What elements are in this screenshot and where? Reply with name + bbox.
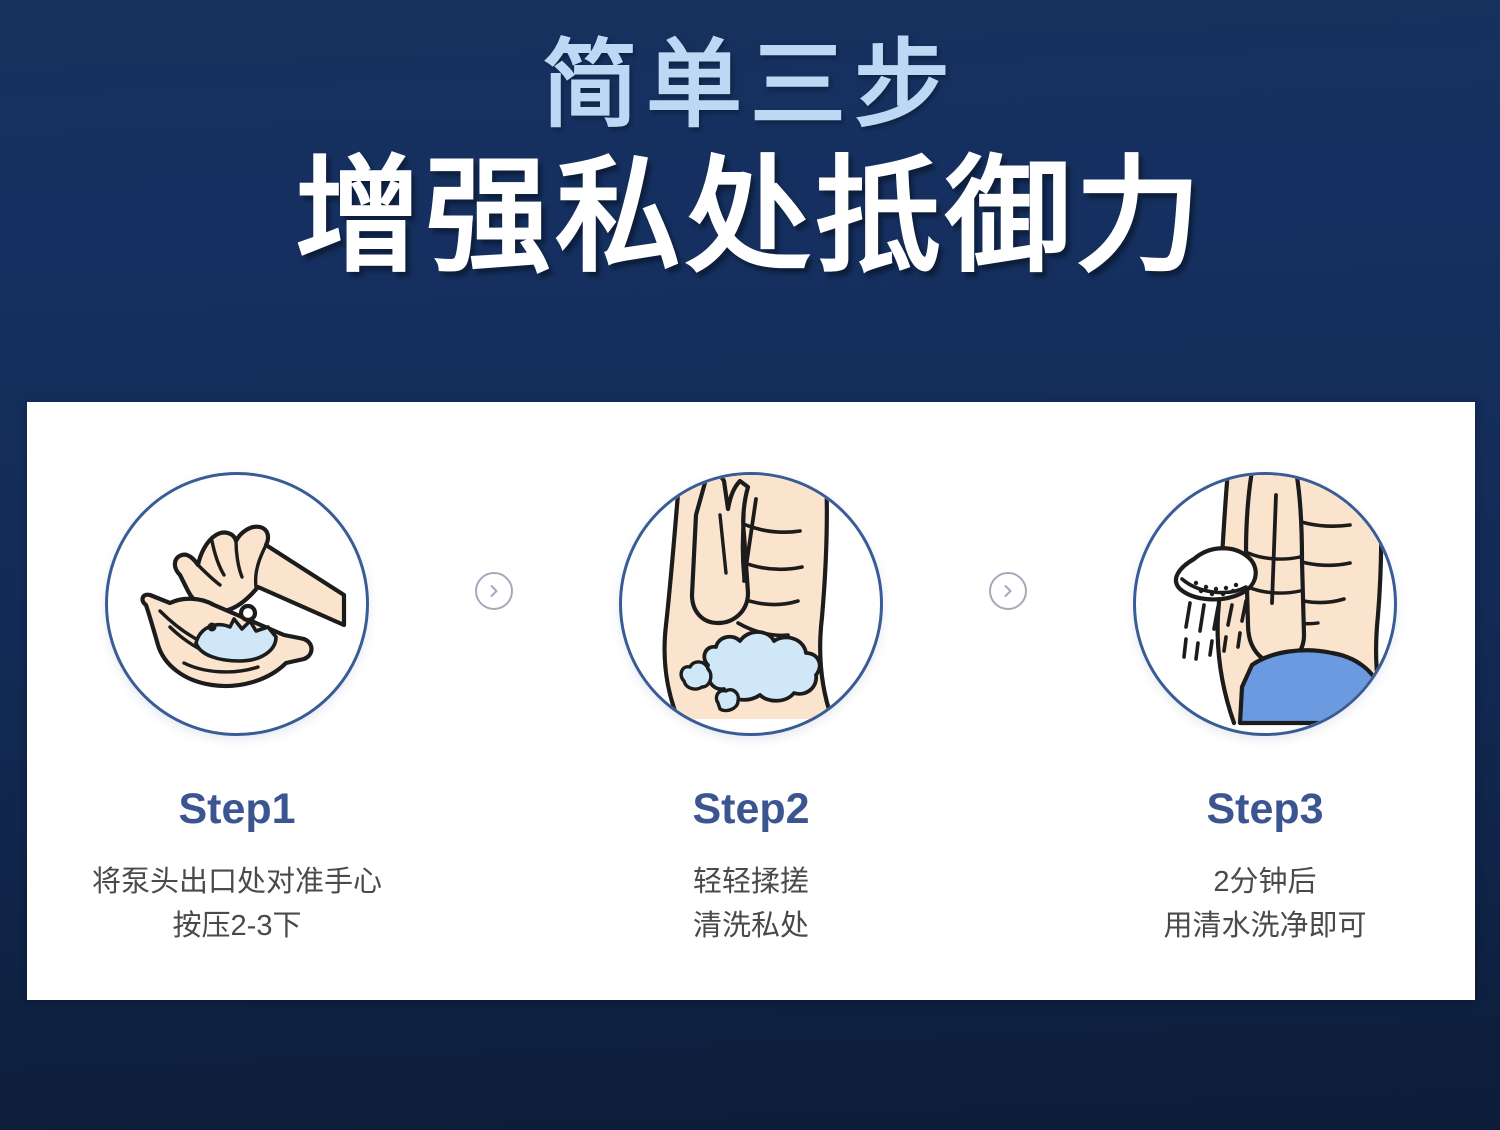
showerhead-rinse-icon xyxy=(1136,475,1394,733)
step-1-desc-line-1: 将泵头出口处对准手心 xyxy=(92,860,382,904)
step-1[interactable]: Step1 将泵头出口处对准手心 按压2-3下 xyxy=(33,402,441,948)
step-2-description: 轻轻揉搓 清洗私处 xyxy=(693,860,809,948)
header-subtitle: 简单三步 xyxy=(0,30,1500,142)
step-connector-1 xyxy=(441,402,547,610)
hand-lather-body-icon xyxy=(622,475,880,733)
step-3-label: Step3 xyxy=(1206,784,1323,834)
header-title: 增强私处抵御力 xyxy=(0,144,1500,290)
step-1-description: 将泵头出口处对准手心 按压2-3下 xyxy=(92,860,382,948)
chevron-right-icon xyxy=(989,572,1027,610)
promo-page: 简单三步 增强私处抵御力 xyxy=(0,0,1500,1130)
step-2-desc-line-2: 清洗私处 xyxy=(693,904,809,948)
header: 简单三步 增强私处抵御力 xyxy=(0,0,1500,290)
step-1-desc-line-2: 按压2-3下 xyxy=(92,904,382,948)
steps-card: Step1 将泵头出口处对准手心 按压2-3下 xyxy=(27,402,1475,1000)
step-3[interactable]: Step3 2分钟后 用清水洗净即可 xyxy=(1061,402,1469,948)
step-2[interactable]: Step2 轻轻揉搓 清洗私处 xyxy=(547,402,955,948)
step-2-label: Step2 xyxy=(692,784,809,834)
step-3-desc-line-1: 2分钟后 xyxy=(1163,860,1366,904)
step-connector-2 xyxy=(955,402,1061,610)
step-3-illustration xyxy=(1133,472,1397,736)
steps-row: Step1 将泵头出口处对准手心 按压2-3下 xyxy=(27,402,1475,1000)
step-2-desc-line-1: 轻轻揉搓 xyxy=(693,860,809,904)
step-1-illustration xyxy=(105,472,369,736)
step-2-illustration xyxy=(619,472,883,736)
hand-pump-dispense-icon xyxy=(108,475,366,733)
chevron-right-icon xyxy=(475,572,513,610)
step-3-description: 2分钟后 用清水洗净即可 xyxy=(1163,860,1366,948)
step-1-label: Step1 xyxy=(178,784,295,834)
step-3-desc-line-2: 用清水洗净即可 xyxy=(1163,904,1366,948)
